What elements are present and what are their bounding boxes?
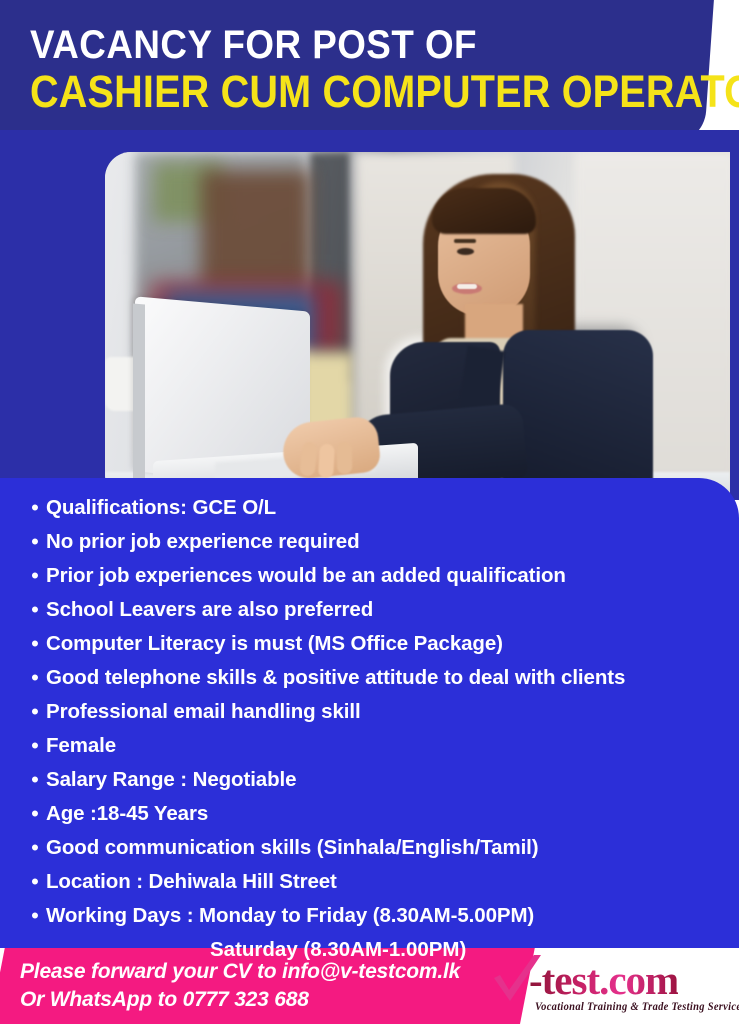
photo-band [0,130,739,500]
contact-whatsapp-line: Or WhatsApp to 0777 323 688 [20,986,460,1014]
list-item-label: School Leavers are also preferred [46,594,373,625]
bullet-icon: • [24,662,46,693]
requirements-list: • Qualifications: GCE O/L • No prior job… [0,492,739,965]
bullet-icon: • [24,764,46,795]
photo-woman-teeth [457,284,477,289]
list-item: • Good communication skills (Sinhala/Eng… [0,832,739,863]
header-title-block: VACANCY FOR POST OF CASHIER CUM COMPUTER… [30,24,710,117]
working-hours-saturday: Saturday (8.30AM-1.00PM) [210,934,739,965]
list-item: • Salary Range : Negotiable [0,764,739,795]
bullet-icon: • [24,560,46,591]
list-item-label: Location : Dehiwala Hill Street [46,866,337,897]
list-item-label: Salary Range : Negotiable [46,764,296,795]
woman-at-laptop-photo [105,152,730,500]
page-title-line2: CASHIER CUM COMPUTER OPERATOR [30,68,628,117]
bullet-icon: • [24,492,46,523]
list-item: • Professional email handling skill [0,696,739,727]
list-item-label: Professional email handling skill [46,696,361,727]
photo-woman-blazer-right [503,330,653,500]
page-title-line1: VACANCY FOR POST OF [30,24,656,66]
list-item: • Working Days : Monday to Friday (8.30A… [0,900,739,931]
photo-laptop-edge [133,303,145,482]
list-item-label: Prior job experiences would be an added … [46,560,566,591]
photo-woman-eye [457,248,474,255]
list-item: • Female [0,730,739,761]
photo-woman-fringe [432,188,536,234]
photo-woman-finger-3 [337,442,353,474]
list-item-label: Working Days : Monday to Friday (8.30AM-… [46,900,534,931]
list-item-label: Good telephone skills & positive attitud… [46,662,625,693]
bullet-icon: • [24,866,46,897]
bullet-icon: • [24,696,46,727]
list-item-label: No prior job experience required [46,526,360,557]
bullet-icon: • [24,526,46,557]
list-item-label: Computer Literacy is must (MS Office Pac… [46,628,503,659]
list-item-label: Female [46,730,116,761]
bullet-icon: • [24,628,46,659]
bullet-icon: • [24,594,46,625]
bullet-icon: • [24,832,46,863]
contact-details: Please forward your CV to info@v-testcom… [20,958,460,1014]
list-item-label: Qualifications: GCE O/L [46,492,276,523]
photo-person-blur [201,170,311,290]
photo-woman-eyebrow [454,239,476,243]
list-item-label: Age :18-45 Years [46,798,208,829]
job-vacancy-poster: VACANCY FOR POST OF CASHIER CUM COMPUTER… [0,0,739,1024]
list-item: • Age :18-45 Years [0,798,739,829]
bullet-icon: • [24,730,46,761]
list-item-label: Good communication skills (Sinhala/Engli… [46,832,539,863]
list-item: • School Leavers are also preferred [0,594,739,625]
list-item: • Prior job experiences would be an adde… [0,560,739,591]
list-item: • Qualifications: GCE O/L [0,492,739,523]
list-item: • Location : Dehiwala Hill Street [0,866,739,897]
bullet-icon: • [24,798,46,829]
list-item: • No prior job experience required [0,526,739,557]
photo-woman-finger-2 [318,444,335,479]
list-item: • Computer Literacy is must (MS Office P… [0,628,739,659]
list-item: • Good telephone skills & positive attit… [0,662,739,693]
bullet-icon: • [24,900,46,931]
logo-tagline: Vocational Training & Trade Testing Serv… [535,1002,739,1014]
